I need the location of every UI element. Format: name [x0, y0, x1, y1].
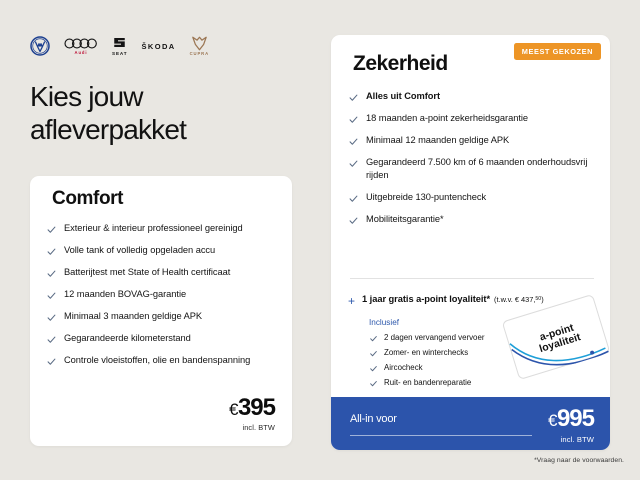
comfort-package-card[interactable]: Comfort Exterieur & interieur profession…	[30, 176, 292, 446]
list-item: Uitgebreide 130-puntencheck	[348, 191, 596, 204]
list-item: Ruit- en bandenreparatie	[369, 378, 484, 388]
list-item-label: Uitgebreide 130-puntencheck	[366, 191, 486, 204]
list-item-label: Ruit- en bandenreparatie	[384, 378, 471, 388]
brand-logo-row: Audi SEAT ŠKODA CUPRA	[30, 33, 209, 59]
comfort-price-value: €395	[229, 396, 275, 420]
check-icon	[46, 268, 57, 279]
comfort-price: €395 incl. BTW	[229, 396, 275, 432]
inclusief-heading: Inclusief	[369, 318, 484, 327]
skoda-logo: ŠKODA	[142, 33, 176, 59]
price-amount: 395	[238, 394, 275, 421]
list-item-label: 18 maanden a-point zekerheidsgarantie	[366, 112, 528, 125]
list-item-label: Gegarandeerde kilometerstand	[64, 332, 191, 345]
check-icon	[46, 246, 57, 257]
check-icon	[348, 136, 359, 147]
currency-symbol: €	[229, 400, 238, 419]
list-item: Zomer- en winterchecks	[369, 348, 484, 358]
zekerheid-card-title: Zekerheid	[353, 52, 448, 76]
check-icon	[348, 158, 359, 169]
check-icon	[369, 349, 378, 358]
list-item: 2 dagen vervangend vervoer	[369, 333, 484, 343]
list-item: Gegarandeerde kilometerstand	[46, 332, 280, 345]
currency-symbol: €	[548, 411, 557, 430]
zekerheid-package-card[interactable]: MEEST GEKOZEN Zekerheid Alles uit Comfor…	[331, 35, 610, 450]
list-item-label: Volle tank of volledig opgeladen accu	[64, 244, 215, 257]
loyalty-bonus-label: 1 jaar gratis a-point loyaliteit*(t.w.v.…	[362, 294, 544, 304]
check-icon	[46, 312, 57, 323]
check-icon	[348, 193, 359, 204]
list-item: Alles uit Comfort	[348, 90, 596, 103]
inclusief-section: Inclusief 2 dagen vervangend vervoer Zom…	[369, 318, 484, 393]
plus-icon: +	[348, 295, 355, 307]
volkswagen-logo	[30, 33, 50, 59]
list-item: Minimaal 12 maanden geldige APK	[348, 134, 596, 147]
seat-logo: SEAT	[112, 33, 128, 59]
all-in-price: €995 incl. BTW	[548, 407, 594, 444]
comfort-feature-list: Exterieur & interieur professioneel gere…	[46, 222, 280, 376]
list-item-label: Zomer- en winterchecks	[384, 348, 468, 358]
loyalty-value-prefix: (t.w.v. € 437,	[494, 295, 535, 304]
list-item: Mobiliteitsgarantie*	[348, 213, 596, 226]
cupra-icon	[191, 36, 208, 51]
comfort-price-note: incl. BTW	[229, 423, 275, 432]
check-icon	[369, 364, 378, 373]
list-item-label: Controle vloeistoffen, olie en bandenspa…	[64, 354, 250, 367]
all-in-label: All-in voor	[350, 413, 397, 425]
list-item-label: Minimaal 12 maanden geldige APK	[366, 134, 509, 147]
zekerheid-feature-list: Alles uit Comfort 18 maanden a-point zek…	[348, 90, 596, 235]
loyalty-value-suffix: )	[541, 295, 543, 304]
list-item: Volle tank of volledig opgeladen accu	[46, 244, 280, 257]
list-item: 18 maanden a-point zekerheidsgarantie	[348, 112, 596, 125]
all-in-price-note: incl. BTW	[548, 435, 594, 444]
seat-s-icon	[112, 35, 127, 50]
audi-wordmark: Audi	[75, 51, 88, 55]
list-item: Aircocheck	[369, 363, 484, 373]
footnote: *Vraag naar de voorwaarden.	[534, 457, 624, 464]
delivery-package-page: Audi SEAT ŠKODA CUPRA Kies jouw afleverp…	[0, 0, 640, 480]
check-icon	[348, 114, 359, 125]
status-badge: MEEST GEKOZEN	[514, 43, 601, 60]
loyalty-bonus-title: 1 jaar gratis a-point loyaliteit*	[362, 294, 490, 304]
list-item: 12 maanden BOVAG-garantie	[46, 288, 280, 301]
section-divider	[350, 278, 594, 279]
all-in-rule	[350, 435, 532, 436]
check-icon	[369, 379, 378, 388]
vw-icon	[30, 36, 50, 56]
check-icon	[348, 92, 359, 103]
check-icon	[348, 215, 359, 226]
page-title: Kies jouw afleverpakket	[30, 80, 186, 146]
cupra-wordmark: CUPRA	[190, 52, 209, 56]
list-item-label: Aircocheck	[384, 363, 423, 373]
all-in-price-value: €995	[548, 407, 594, 431]
all-in-price-bar: All-in voor €995 incl. BTW	[331, 397, 610, 450]
check-icon	[46, 356, 57, 367]
list-item-label: Mobiliteitsgarantie*	[366, 213, 444, 226]
list-item: Exterieur & interieur professioneel gere…	[46, 222, 280, 235]
check-icon	[369, 334, 378, 343]
list-item: Batterijtest met State of Health certifi…	[46, 266, 280, 279]
skoda-wordmark: ŠKODA	[142, 42, 176, 51]
list-item-label: Exterieur & interieur professioneel gere…	[64, 222, 243, 235]
price-amount: 995	[557, 405, 594, 432]
seat-wordmark: SEAT	[112, 52, 128, 57]
cupra-logo: CUPRA	[190, 33, 209, 59]
comfort-card-title: Comfort	[52, 188, 123, 210]
check-icon	[46, 334, 57, 345]
list-item-label: 12 maanden BOVAG-garantie	[64, 288, 186, 301]
check-icon	[46, 224, 57, 235]
left-column: Audi SEAT ŠKODA CUPRA Kies jouw afleverp…	[0, 0, 320, 480]
list-item: Controle vloeistoffen, olie en bandenspa…	[46, 354, 280, 367]
list-item-label: Minimaal 3 maanden geldige APK	[64, 310, 202, 323]
audi-rings-icon	[64, 37, 98, 50]
audi-logo: Audi	[64, 33, 98, 59]
list-item-label: Gegarandeerd 7.500 km of 6 maanden onder…	[366, 156, 596, 182]
list-item-label: 2 dagen vervangend vervoer	[384, 333, 484, 343]
list-item: Gegarandeerd 7.500 km of 6 maanden onder…	[348, 156, 596, 182]
loyalty-bonus-value: (t.w.v. € 437,50)	[494, 295, 544, 304]
list-item-label: Batterijtest met State of Health certifi…	[64, 266, 230, 279]
list-item: Minimaal 3 maanden geldige APK	[46, 310, 280, 323]
list-item-label: Alles uit Comfort	[366, 90, 440, 103]
check-icon	[46, 290, 57, 301]
